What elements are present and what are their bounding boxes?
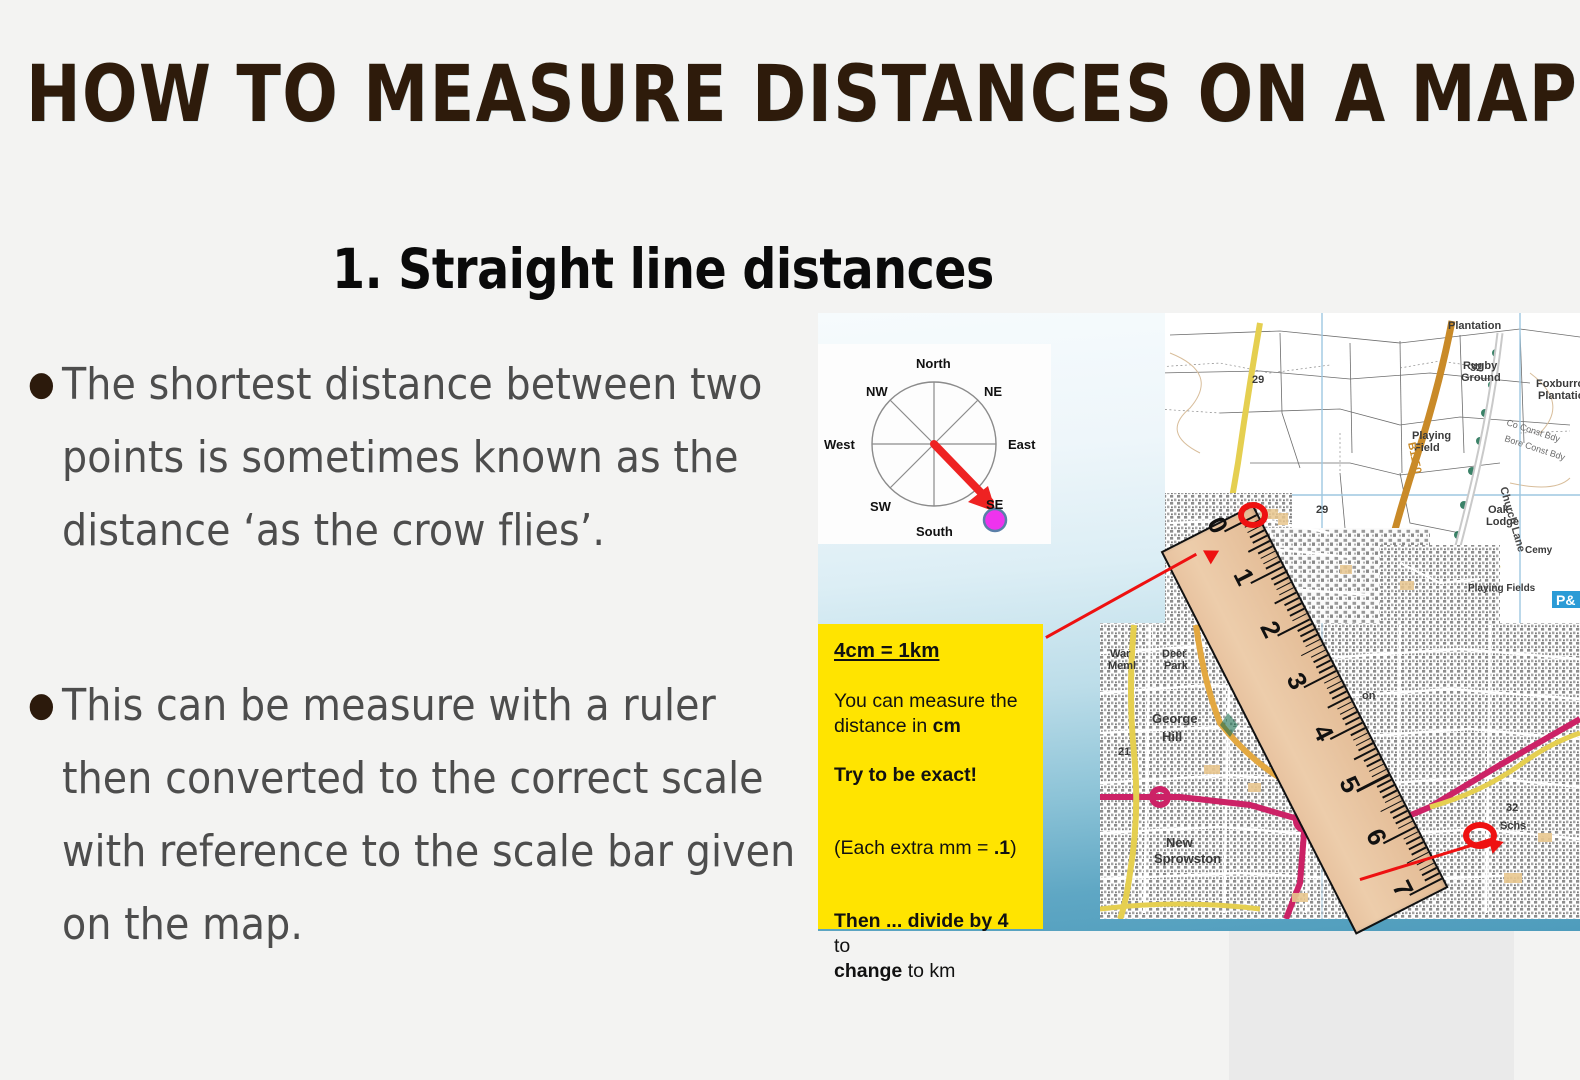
list-item: ● This can be measure with a ruler then …: [18, 669, 808, 961]
svg-text:32: 32: [1506, 802, 1518, 814]
compass-label-north: North: [916, 356, 951, 371]
svg-text:Foxburrow: Foxburrow: [1536, 378, 1580, 390]
scale-line-3-end: ): [1010, 837, 1017, 859]
scale-line-1b-text: distance in: [834, 715, 933, 737]
svg-text:29: 29: [1316, 504, 1328, 516]
svg-text:Park: Park: [1164, 660, 1189, 672]
svg-text:Deer: Deer: [1162, 648, 1187, 660]
scale-line-3-text: (Each extra mm =: [834, 837, 994, 859]
section-subtitle: 1. Straight line distances: [332, 238, 994, 300]
scale-line-3: (Each extra mm = .1): [834, 836, 1027, 861]
ruler-number: 4: [1306, 720, 1340, 747]
compass-rose-diagram: North NE East SE South SW West NW: [818, 344, 1051, 544]
svg-text:P&: P&: [1556, 592, 1575, 608]
compass-label-west: West: [824, 437, 855, 452]
ruler-number: 2: [1253, 616, 1287, 643]
svg-text:Plantation: Plantation: [1448, 320, 1501, 332]
svg-text:Sprowston: Sprowston: [1154, 851, 1221, 866]
ruler-number: 3: [1279, 668, 1313, 695]
scale-line-1b: distance in cm: [834, 714, 1027, 739]
scale-line-4b-text: to km: [902, 960, 955, 982]
ruler-number: 6: [1359, 824, 1393, 851]
scale-line-2: Try to be exact!: [834, 763, 1027, 788]
svg-text:Hill: Hill: [1162, 729, 1182, 744]
scale-line-4b: change to km: [834, 959, 1027, 984]
bullet-list: ● The shortest distance between two poin…: [18, 348, 808, 961]
svg-text:Plantation: Plantation: [1538, 390, 1580, 402]
compass-label-nw: NW: [866, 384, 888, 399]
scale-line-3-bold: .1: [994, 837, 1010, 859]
svg-text:Cemy: Cemy: [1525, 545, 1553, 556]
svg-text:Playing Fields: Playing Fields: [1468, 583, 1536, 594]
scale-line-4b-bold: change: [834, 960, 902, 982]
compass-label-east: East: [1008, 437, 1036, 452]
svg-text:New: New: [1166, 835, 1194, 850]
scale-line-4a-text: to: [834, 935, 850, 957]
scale-heading: 4cm = 1km: [834, 638, 939, 663]
scale-note-box: 4cm = 1km You can measure the distance i…: [818, 624, 1043, 929]
bullet-dot-icon: ●: [28, 348, 55, 421]
bullet-text: This can be measure with a ruler then co…: [62, 680, 795, 950]
page-title: HOW TO MEASURE DISTANCES ON A MAP: [26, 55, 1328, 135]
ruler-number: 1: [1226, 564, 1260, 591]
svg-text:on: on: [1362, 690, 1376, 702]
compass-label-ne: NE: [984, 384, 1002, 399]
svg-text:21: 21: [1118, 746, 1130, 758]
ruler-number: 5: [1332, 772, 1366, 799]
scale-line-4a-bold: Then ... divide by 4: [834, 910, 1008, 932]
start-point-marker: [1238, 502, 1268, 528]
ruler-number: 7: [1385, 876, 1419, 903]
scale-line-1a: You can measure the: [834, 689, 1027, 714]
svg-text:Meml: Meml: [1108, 660, 1136, 672]
compass-label-se: SE: [986, 497, 1004, 512]
svg-text:Schs: Schs: [1500, 820, 1526, 832]
scale-line-4a: Then ... divide by 4 to: [834, 909, 1027, 959]
compass-label-sw: SW: [870, 499, 892, 514]
p-and-r-badge: P&: [1552, 591, 1580, 608]
bullet-dot-icon: ●: [28, 669, 55, 742]
svg-text:War: War: [1110, 648, 1131, 660]
slide-canvas: HOW TO MEASURE DISTANCES ON A MAP 1. Str…: [0, 0, 1580, 1080]
svg-text:29: 29: [1252, 374, 1264, 386]
svg-text:George: George: [1152, 711, 1198, 726]
scale-line-1b-bold: cm: [933, 715, 961, 737]
compass-label-south: South: [916, 524, 953, 539]
svg-text:32: 32: [1470, 362, 1482, 374]
list-item: ● The shortest distance between two poin…: [18, 348, 808, 567]
bullet-text: The shortest distance between two points…: [62, 359, 762, 556]
svg-text:Playing: Playing: [1412, 430, 1451, 442]
bottom-right-panel: [1229, 929, 1514, 1080]
